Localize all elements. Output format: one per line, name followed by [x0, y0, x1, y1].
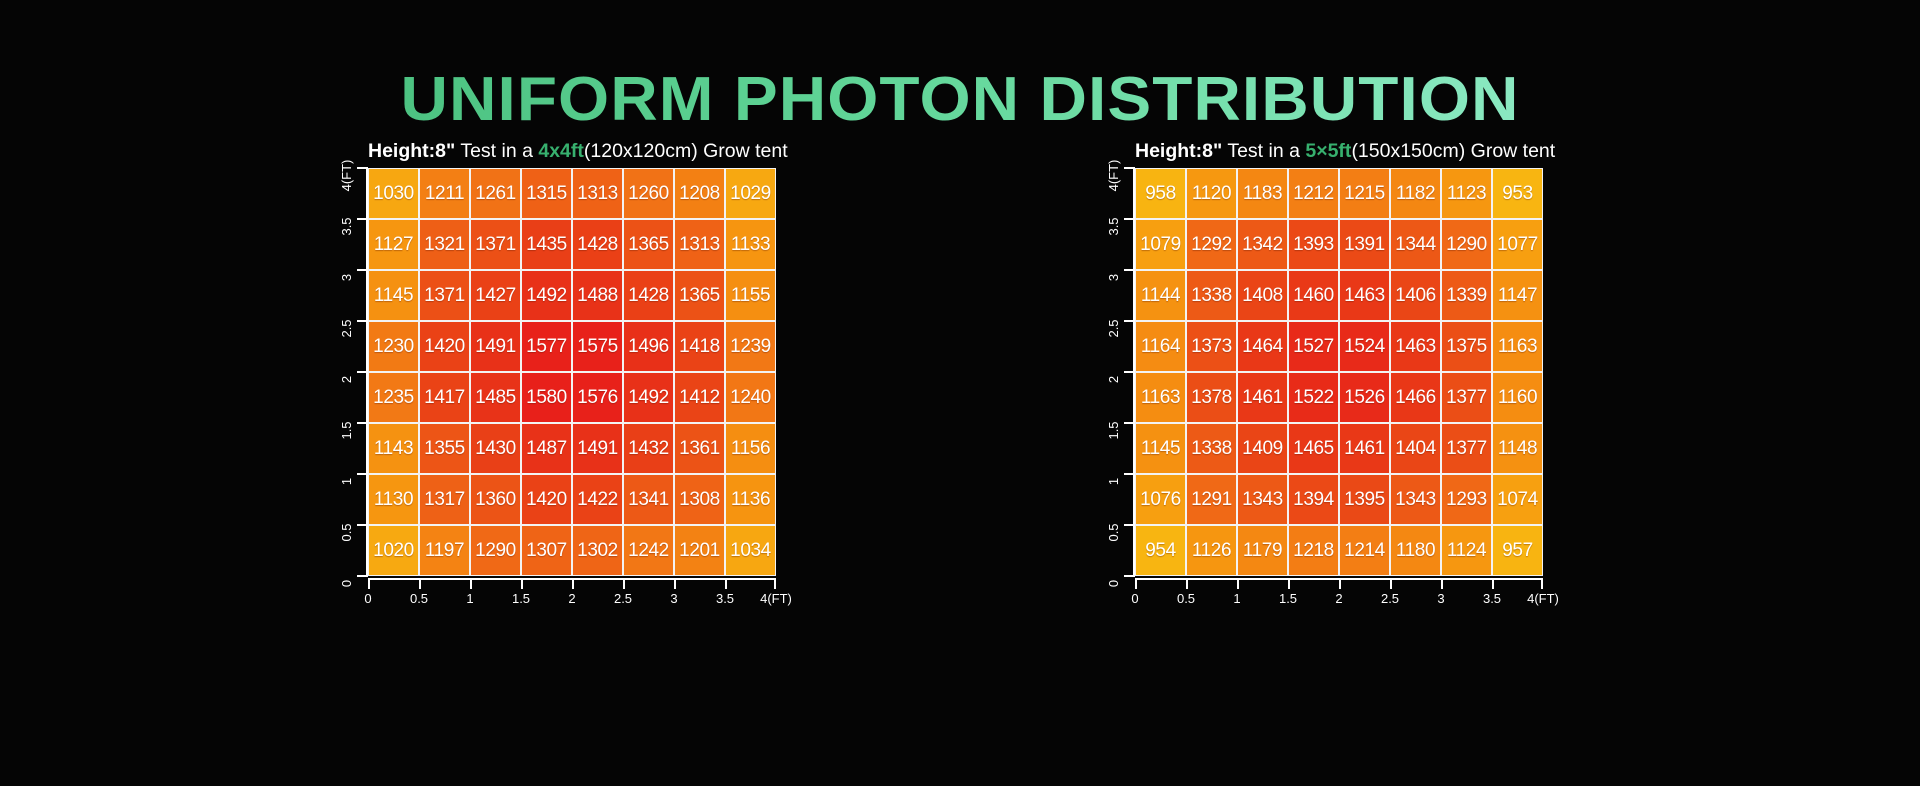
y-axis-tick-label: 3.5	[1106, 217, 1121, 235]
tent-size-label: 4x4ft	[538, 140, 584, 162]
heatmap-cell: 1377	[1442, 424, 1491, 473]
y-axis-tick	[357, 473, 368, 475]
x-axis-tick	[521, 578, 523, 589]
heatmap-cell: 1488	[573, 271, 622, 320]
y-axis-tick-label: 3	[339, 274, 354, 281]
heatmap-cell: 1435	[522, 220, 571, 269]
heatmap-cell: 1491	[573, 424, 622, 473]
heatmap-cell: 1180	[1391, 526, 1440, 575]
heatmap-grid-5x5: 9581120118312121215118211239531079129213…	[1135, 168, 1543, 576]
heatmap-cell: 1343	[1391, 475, 1440, 524]
heatmap-cell: 1365	[675, 271, 724, 320]
page-title: UNIFORM PHOTON DISTRIBUTION	[0, 64, 1920, 135]
x-axis-tick-label: 2	[568, 591, 575, 606]
heatmap-cell: 958	[1136, 169, 1185, 218]
x-axis-tick	[1288, 578, 1290, 589]
heatmap-cell: 1183	[1238, 169, 1287, 218]
heatmap-cell: 1344	[1391, 220, 1440, 269]
heatmap-cell: 1371	[420, 271, 469, 320]
heatmap-cell: 1485	[471, 373, 520, 422]
heatmap-cell: 1164	[1136, 322, 1185, 371]
heatmap-cell: 1315	[522, 169, 571, 218]
heatmap-cell: 1393	[1289, 220, 1338, 269]
x-axis-tick	[572, 578, 574, 589]
heatmap-cell: 1461	[1340, 424, 1389, 473]
y-axis-tick	[1124, 422, 1135, 424]
y-axis-4x4: 00.511.522.533.54(FT)	[318, 168, 368, 576]
y-axis-tick	[357, 218, 368, 220]
heatmap-cell: 1420	[420, 322, 469, 371]
heatmap-cell: 1163	[1493, 322, 1542, 371]
y-axis-tick-label: 0	[339, 580, 354, 587]
y-axis-tick-label: 4(FT)	[1106, 160, 1121, 192]
y-axis-tick-label: 1.5	[339, 421, 354, 439]
heatmap-cell: 1492	[522, 271, 571, 320]
x-axis-tick-label: 0.5	[1177, 591, 1195, 606]
heatmap-cell: 1077	[1493, 220, 1542, 269]
heatmap-cell: 957	[1493, 526, 1542, 575]
heatmap-cell: 1290	[1442, 220, 1491, 269]
heatmap-cell: 1524	[1340, 322, 1389, 371]
heatmap-cell: 1460	[1289, 271, 1338, 320]
heatmap-cell: 1302	[573, 526, 622, 575]
x-axis-tick-label: 0.5	[410, 591, 428, 606]
heatmap-cell: 1148	[1493, 424, 1542, 473]
y-axis-tick	[1124, 575, 1135, 577]
y-axis-tick-label: 2.5	[339, 319, 354, 337]
heatmap-cell: 1338	[1187, 271, 1236, 320]
heatmap-cell: 1261	[471, 169, 520, 218]
tent-size-label: 5×5ft	[1305, 140, 1351, 162]
heatmap-cell: 1377	[1442, 373, 1491, 422]
heatmap-cell: 1133	[726, 220, 775, 269]
heatmap-cell: 1466	[1391, 373, 1440, 422]
heatmap-cell: 1214	[1340, 526, 1389, 575]
x-axis-tick	[674, 578, 676, 589]
heatmap-cell: 1343	[1238, 475, 1287, 524]
x-axis-tick-label: 3.5	[716, 591, 734, 606]
tent-metric-label: (150x150cm) Grow tent	[1351, 140, 1555, 162]
x-axis-tick-label: 0	[364, 591, 371, 606]
heatmap-cell: 1577	[522, 322, 571, 371]
heatmap-cell: 1492	[624, 373, 673, 422]
header-mid-text: Test in a	[455, 140, 538, 162]
heatmap-cell: 1428	[624, 271, 673, 320]
header-mid-text: Test in a	[1222, 140, 1305, 162]
y-axis-tick	[1124, 167, 1135, 169]
heatmap-cell: 1427	[471, 271, 520, 320]
heatmap-cell: 1394	[1289, 475, 1338, 524]
heatmap-cell: 1293	[1442, 475, 1491, 524]
x-axis-tick-label: 2.5	[614, 591, 632, 606]
x-axis-tick	[1390, 578, 1392, 589]
y-axis-tick	[1124, 320, 1135, 322]
x-axis-tick	[1339, 578, 1341, 589]
heatmap-cell: 1360	[471, 475, 520, 524]
heatmap-cell: 1391	[1340, 220, 1389, 269]
panel-header-5x5: Height:8" Test in a 5×5ft(150x150cm) Gro…	[1135, 140, 1555, 163]
x-axis-tick-label: 4(FT)	[760, 591, 792, 606]
heatmap-cell: 1136	[726, 475, 775, 524]
heatmap-grid-4x4: 1030121112611315131312601208102911271321…	[368, 168, 776, 576]
heatmap-cell: 1155	[726, 271, 775, 320]
y-axis-tick-label: 2	[339, 376, 354, 383]
heatmap-cell: 1030	[369, 169, 418, 218]
heatmap-cell: 1147	[1493, 271, 1542, 320]
x-axis-tick	[1441, 578, 1443, 589]
heatmap-cell: 1143	[369, 424, 418, 473]
heatmap-cell: 953	[1493, 169, 1542, 218]
heatmap-cell: 1211	[420, 169, 469, 218]
heatmap-cell: 1308	[675, 475, 724, 524]
heatmap-cell: 1079	[1136, 220, 1185, 269]
y-axis-tick-label: 1.5	[1106, 421, 1121, 439]
x-axis-tick-label: 3.5	[1483, 591, 1501, 606]
x-axis-tick-label: 1	[1233, 591, 1240, 606]
heatmap-cell: 1463	[1340, 271, 1389, 320]
heatmap-cell: 1074	[1493, 475, 1542, 524]
heatmap-cell: 1242	[624, 526, 673, 575]
y-axis-5x5: 00.511.522.533.54(FT)	[1085, 168, 1135, 576]
heatmap-cell: 1076	[1136, 475, 1185, 524]
heatmap-cell: 1496	[624, 322, 673, 371]
heatmap-cell: 1412	[675, 373, 724, 422]
heatmap-cell: 1317	[420, 475, 469, 524]
x-axis-tick-label: 2.5	[1381, 591, 1399, 606]
y-axis-tick-label: 3	[1106, 274, 1121, 281]
x-axis-tick	[1492, 578, 1494, 589]
heatmap-cell: 1130	[369, 475, 418, 524]
y-axis-tick-label: 3.5	[339, 217, 354, 235]
heatmap-cell: 1313	[573, 169, 622, 218]
heatmap-cell: 1338	[1187, 424, 1236, 473]
x-axis-tick	[623, 578, 625, 589]
x-axis-tick	[470, 578, 472, 589]
heatmap-cell: 1212	[1289, 169, 1338, 218]
y-axis-tick-label: 2	[1106, 376, 1121, 383]
heatmap-cell: 1371	[471, 220, 520, 269]
y-axis-tick	[357, 575, 368, 577]
y-axis-tick	[1124, 269, 1135, 271]
y-axis-tick	[1124, 218, 1135, 220]
heatmap-cell: 1418	[675, 322, 724, 371]
heatmap-cell: 1378	[1187, 373, 1236, 422]
page-root: UNIFORM PHOTON DISTRIBUTION Height:8" Te…	[0, 0, 1920, 786]
heatmap-cell: 1375	[1442, 322, 1491, 371]
heatmap-cell: 1342	[1238, 220, 1287, 269]
y-axis-tick-label: 2.5	[1106, 319, 1121, 337]
x-axis-tick	[1541, 578, 1543, 589]
heatmap-cell: 1201	[675, 526, 724, 575]
y-axis-tick	[1124, 524, 1135, 526]
x-axis-5x5: 00.511.522.533.54(FT)	[1135, 578, 1543, 614]
heatmap-cell: 1361	[675, 424, 724, 473]
heatmap-cell: 1373	[1187, 322, 1236, 371]
heatmap-cell: 1124	[1442, 526, 1491, 575]
heatmap-cell: 1163	[1136, 373, 1185, 422]
heatmap-cell: 1355	[420, 424, 469, 473]
y-axis-tick	[1124, 371, 1135, 373]
heatmap-cell: 1339	[1442, 271, 1491, 320]
heatmap-cell: 1126	[1187, 526, 1236, 575]
y-axis-tick	[357, 524, 368, 526]
panel-header-4x4: Height:8" Test in a 4x4ft(120x120cm) Gro…	[368, 140, 788, 163]
x-axis-tick	[419, 578, 421, 589]
heatmap-cell: 1292	[1187, 220, 1236, 269]
heatmap-cell: 1230	[369, 322, 418, 371]
heatmap-cell: 1487	[522, 424, 571, 473]
x-axis-tick	[1186, 578, 1188, 589]
height-label: Height:8"	[1135, 140, 1222, 162]
y-axis-tick	[1124, 473, 1135, 475]
heatmap-cell: 1291	[1187, 475, 1236, 524]
heatmap-cell: 1240	[726, 373, 775, 422]
x-axis-tick	[725, 578, 727, 589]
heatmap-cell: 1029	[726, 169, 775, 218]
heatmap-cell: 1156	[726, 424, 775, 473]
heatmap-cell: 1123	[1442, 169, 1491, 218]
heatmap-cell: 1307	[522, 526, 571, 575]
y-axis-tick-label: 0.5	[1106, 523, 1121, 541]
heatmap-cell: 1395	[1340, 475, 1389, 524]
heatmap-cell: 1417	[420, 373, 469, 422]
heatmap-cell: 1432	[624, 424, 673, 473]
heatmap-cell: 1580	[522, 373, 571, 422]
y-axis-tick-label: 1	[339, 478, 354, 485]
x-axis-tick-label: 1	[466, 591, 473, 606]
x-axis-tick	[1237, 578, 1239, 589]
heatmap-cell: 1526	[1340, 373, 1389, 422]
heatmap-cell: 1127	[369, 220, 418, 269]
y-axis-tick-label: 4(FT)	[339, 160, 354, 192]
heatmap-cell: 1464	[1238, 322, 1287, 371]
heatmap-cell: 1144	[1136, 271, 1185, 320]
heatmap-cell: 1239	[726, 322, 775, 371]
heatmap-cell: 1404	[1391, 424, 1440, 473]
tent-metric-label: (120x120cm) Grow tent	[584, 140, 788, 162]
heatmap-cell: 1145	[369, 271, 418, 320]
heatmap-cell: 1182	[1391, 169, 1440, 218]
heatmap-cell: 1197	[420, 526, 469, 575]
heatmap-cell: 1575	[573, 322, 622, 371]
y-axis-tick-label: 0.5	[339, 523, 354, 541]
y-axis-tick-label: 0	[1106, 580, 1121, 587]
heatmap-cell: 1215	[1340, 169, 1389, 218]
heatmap-cell: 1406	[1391, 271, 1440, 320]
heatmap-cell: 1422	[573, 475, 622, 524]
height-label: Height:8"	[368, 140, 455, 162]
heatmap-cell: 1461	[1238, 373, 1287, 422]
y-axis-tick-label: 1	[1106, 478, 1121, 485]
heatmap-cell: 1313	[675, 220, 724, 269]
heatmap-cell: 1235	[369, 373, 418, 422]
x-axis-tick-label: 3	[670, 591, 677, 606]
y-axis-tick	[357, 422, 368, 424]
heatmap-cell: 1420	[522, 475, 571, 524]
heatmap-cell: 1179	[1238, 526, 1287, 575]
x-axis-tick-label: 1.5	[1279, 591, 1297, 606]
heatmap-cell: 1576	[573, 373, 622, 422]
heatmap-cell: 1527	[1289, 322, 1338, 371]
x-axis-tick-label: 4(FT)	[1527, 591, 1559, 606]
heatmap-cell: 1260	[624, 169, 673, 218]
heatmap-cell: 1491	[471, 322, 520, 371]
heatmap-cell: 1208	[675, 169, 724, 218]
heatmap-cell: 1034	[726, 526, 775, 575]
heatmap-cell: 1341	[624, 475, 673, 524]
x-axis-tick	[368, 578, 370, 589]
heatmap-cell: 1409	[1238, 424, 1287, 473]
heatmap-cell: 1020	[369, 526, 418, 575]
y-axis-tick	[357, 269, 368, 271]
heatmap-cell: 1321	[420, 220, 469, 269]
heatmap-cell: 1463	[1391, 322, 1440, 371]
heatmap-cell: 1145	[1136, 424, 1185, 473]
x-axis-tick-label: 2	[1335, 591, 1342, 606]
x-axis-tick-label: 0	[1131, 591, 1138, 606]
x-axis-4x4: 00.511.522.533.54(FT)	[368, 578, 776, 614]
heatmap-cell: 1522	[1289, 373, 1338, 422]
x-axis-tick-label: 3	[1437, 591, 1444, 606]
y-axis-tick	[357, 167, 368, 169]
y-axis-tick	[357, 371, 368, 373]
x-axis-tick	[774, 578, 776, 589]
heatmap-cell: 1160	[1493, 373, 1542, 422]
x-axis-tick-label: 1.5	[512, 591, 530, 606]
heatmap-cell: 1218	[1289, 526, 1338, 575]
heatmap-cell: 1365	[624, 220, 673, 269]
heatmap-cell: 1430	[471, 424, 520, 473]
heatmap-cell: 1120	[1187, 169, 1236, 218]
heatmap-cell: 954	[1136, 526, 1185, 575]
y-axis-tick	[357, 320, 368, 322]
heatmap-cell: 1465	[1289, 424, 1338, 473]
heatmap-cell: 1408	[1238, 271, 1287, 320]
heatmap-cell: 1428	[573, 220, 622, 269]
heatmap-cell: 1290	[471, 526, 520, 575]
x-axis-tick	[1135, 578, 1137, 589]
